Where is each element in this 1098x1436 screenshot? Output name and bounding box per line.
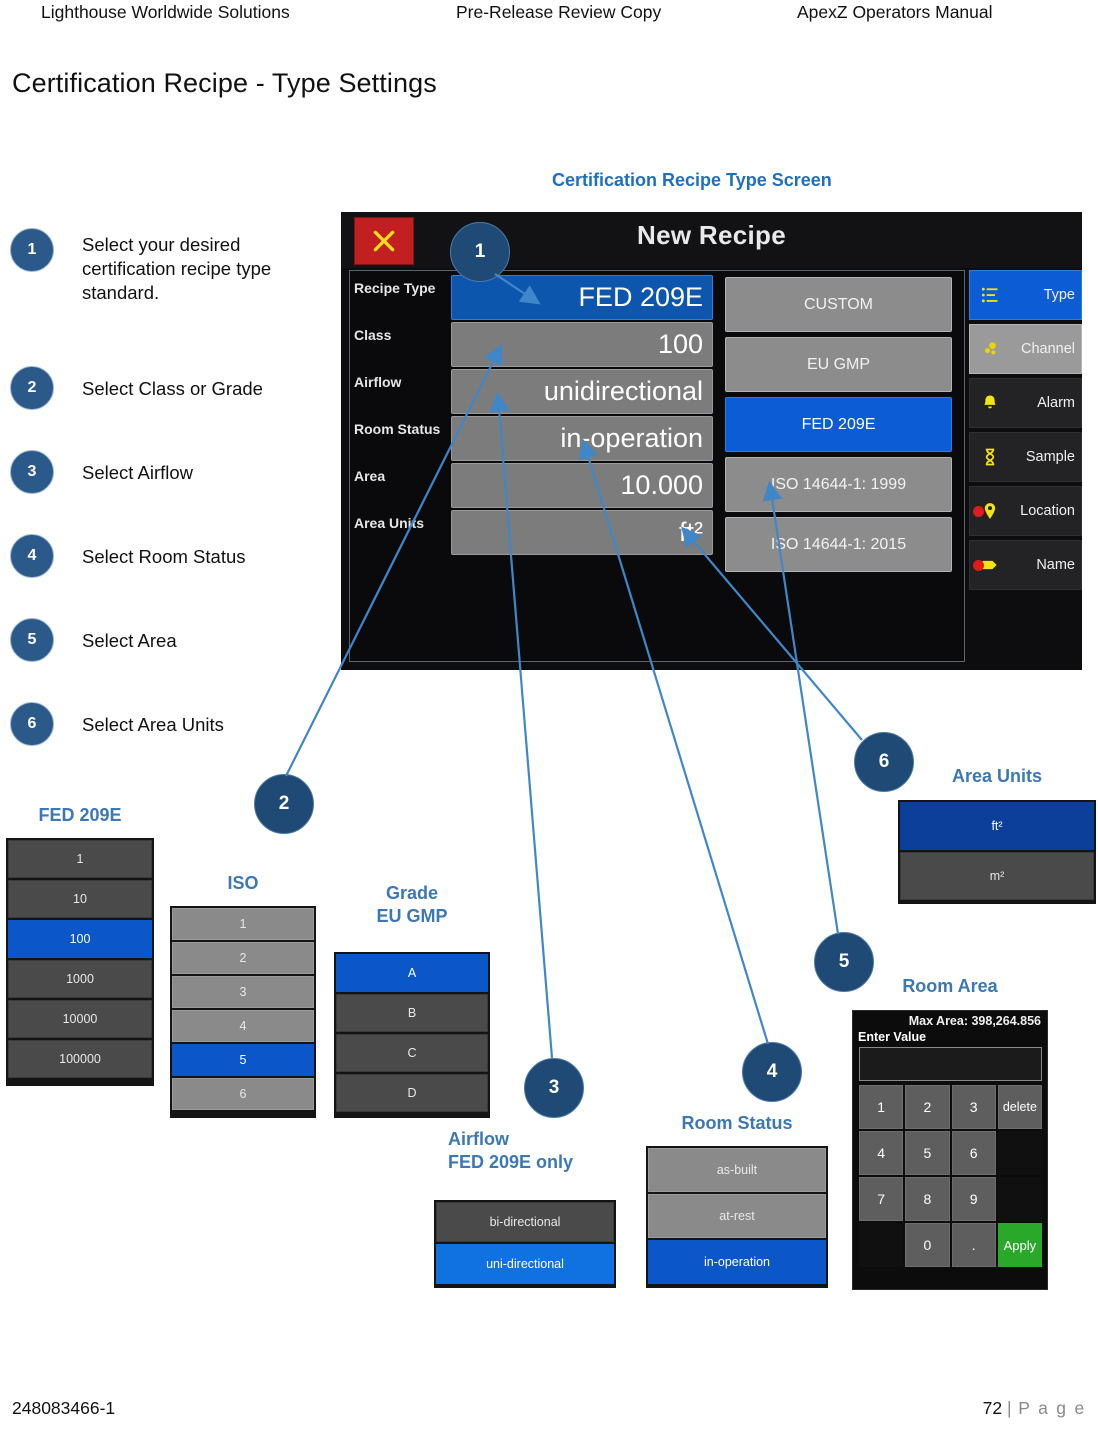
- keypad-key-0[interactable]: 0: [905, 1223, 949, 1267]
- rail-item-alarm-label: Alarm: [1010, 395, 1081, 411]
- panel-title-airflow-line2: FED 209E only: [448, 1152, 573, 1172]
- step-badge-2-label: 2: [28, 379, 37, 397]
- panel-grade-list: A B C D: [334, 952, 490, 1118]
- field-recipe-type-label: Recipe Type: [354, 280, 452, 296]
- footer-page-separator: |: [1007, 1398, 1013, 1418]
- callout-2-label: 2: [279, 793, 290, 815]
- list-item[interactable]: 3: [172, 976, 314, 1008]
- option-iso-2015[interactable]: ISO 14644-1: 2015: [725, 517, 952, 572]
- callout-4-label: 4: [767, 1061, 778, 1083]
- step-2-label: Select Class or Grade: [82, 378, 263, 399]
- panel-room-status-list: as-built at-rest in-operation: [646, 1146, 828, 1288]
- list-item[interactable]: 1: [8, 840, 152, 878]
- step-text-4: Select Room Status: [82, 545, 246, 569]
- recipe-type-options: CUSTOM EU GMP FED 209E ISO 14644-1: 1999…: [725, 277, 952, 577]
- keypad-key-3[interactable]: 3: [952, 1085, 996, 1129]
- step-3-label: Select Airflow: [82, 462, 193, 483]
- step-badge-6-label: 6: [28, 715, 37, 733]
- callout-1-label: 1: [475, 241, 486, 263]
- channel-icon: [970, 339, 1010, 359]
- panel-title-room-status: Room Status: [646, 1112, 828, 1135]
- list-item[interactable]: uni-directional: [436, 1244, 614, 1284]
- panel-airflow-list: bi-directional uni-directional: [434, 1200, 616, 1288]
- page-footer: 248083466-1 72 | P a g e: [0, 1398, 1098, 1428]
- panel-title-grade-line1: Grade: [386, 883, 438, 903]
- step-badge-3-label: 3: [28, 463, 37, 481]
- list-item[interactable]: 2: [172, 942, 314, 974]
- list-item[interactable]: B: [336, 994, 488, 1032]
- keypad-key-7[interactable]: 7: [859, 1177, 903, 1221]
- max-area-label: Max Area: 398,264.856: [909, 1014, 1041, 1028]
- keypad-key-9[interactable]: 9: [952, 1177, 996, 1221]
- callout-6-label: 6: [879, 751, 890, 773]
- panel-room-area-keypad: Max Area: 398,264.856 Enter Value 1 2 3 …: [852, 1010, 1048, 1290]
- list-item[interactable]: as-built: [648, 1148, 826, 1192]
- rail-item-sample-label: Sample: [1010, 449, 1081, 465]
- step-1-label: Select your desired certification recipe…: [82, 234, 271, 303]
- device-nav-rail: Type Channel Alarm: [969, 270, 1082, 594]
- footer-doc-number: 248083466-1: [12, 1398, 115, 1419]
- field-room-status-value[interactable]: in-operation: [451, 416, 713, 461]
- device-body: Recipe Type FED 209E Class 100 Airflow u…: [349, 270, 965, 662]
- list-item[interactable]: 5: [172, 1044, 314, 1076]
- step-badge-2: 2: [10, 366, 54, 410]
- list-item[interactable]: D: [336, 1074, 488, 1112]
- field-area-label: Area: [354, 468, 452, 484]
- keypad-key-blank-3: [859, 1223, 903, 1267]
- footer-page-indicator: 72 | P a g e: [983, 1398, 1086, 1419]
- field-area-value[interactable]: 10.000: [451, 463, 713, 508]
- area-value-input[interactable]: [859, 1047, 1042, 1081]
- step-text-2: Select Class or Grade: [82, 377, 263, 401]
- field-class-value[interactable]: 100: [451, 322, 713, 367]
- step-6-label: Select Area Units: [82, 714, 224, 735]
- list-item[interactable]: 4: [172, 1010, 314, 1042]
- bell-icon: [970, 393, 1010, 413]
- rail-item-name-label: Name: [1010, 557, 1081, 573]
- header-right-text: ApexZ Operators Manual: [797, 2, 993, 23]
- list-item[interactable]: 10000: [8, 1000, 152, 1038]
- list-item[interactable]: in-operation: [648, 1240, 826, 1284]
- callout-4: 4: [742, 1042, 802, 1102]
- callout-3-label: 3: [549, 1077, 560, 1099]
- keypad-key-4[interactable]: 4: [859, 1131, 903, 1175]
- option-eu-gmp[interactable]: EU GMP: [725, 337, 952, 392]
- keypad-key-5[interactable]: 5: [905, 1131, 949, 1175]
- rail-item-type[interactable]: Type: [969, 270, 1082, 320]
- list-item[interactable]: A: [336, 954, 488, 992]
- field-airflow-label: Airflow: [354, 374, 452, 390]
- keypad-key-8[interactable]: 8: [905, 1177, 949, 1221]
- panel-iso-list: 1 2 3 4 5 6: [170, 906, 316, 1118]
- panel-title-fed209e: FED 209E: [6, 804, 154, 827]
- field-area-units-value[interactable]: ft²: [451, 510, 713, 555]
- rail-item-channel[interactable]: Channel: [969, 324, 1082, 374]
- panel-title-grade-line2: EU GMP: [376, 906, 447, 926]
- panel-title-airflow: Airflow FED 209E only: [448, 1128, 628, 1174]
- step-badge-1: 1: [10, 228, 54, 272]
- keypad-key-blank-1: [998, 1131, 1042, 1175]
- field-airflow-value[interactable]: unidirectional: [451, 369, 713, 414]
- panel-title-area-units: Area Units: [898, 765, 1096, 788]
- panel-title-room-area: Room Area: [852, 975, 1048, 998]
- step-badge-4-label: 4: [28, 547, 37, 565]
- panel-title-iso: ISO: [170, 872, 316, 895]
- rail-item-alarm[interactable]: Alarm: [969, 378, 1082, 428]
- list-item[interactable]: ft²: [900, 802, 1094, 850]
- step-text-3: Select Airflow: [82, 461, 193, 485]
- name-alert-dot-icon: [973, 560, 984, 571]
- list-item[interactable]: 1000: [8, 960, 152, 998]
- step-text-1: Select your desired certification recipe…: [82, 233, 297, 305]
- keypad-key-6[interactable]: 6: [952, 1131, 996, 1175]
- step-badge-5-label: 5: [28, 631, 37, 649]
- field-recipe-type-value[interactable]: FED 209E: [451, 275, 713, 320]
- list-item[interactable]: bi-directional: [436, 1202, 614, 1242]
- option-iso-1999[interactable]: ISO 14644-1: 1999: [725, 457, 952, 512]
- keypad-key-blank-2: [998, 1177, 1042, 1221]
- panel-title-grade: Grade EU GMP: [334, 882, 490, 928]
- enter-value-label: Enter Value: [858, 1030, 926, 1044]
- location-alert-dot-icon: [973, 506, 984, 517]
- callout-1: 1: [450, 222, 510, 282]
- step-badge-5: 5: [10, 618, 54, 662]
- keypad-key-1[interactable]: 1: [859, 1085, 903, 1129]
- list-item[interactable]: at-rest: [648, 1194, 826, 1238]
- keypad-key-2[interactable]: 2: [905, 1085, 949, 1129]
- list-item[interactable]: 10: [8, 880, 152, 918]
- header-left-text: Lighthouse Worldwide Solutions: [41, 2, 290, 23]
- callout-2: 2: [254, 774, 314, 834]
- device-screenshot: New Recipe Recipe Type FED 209E Class 10…: [341, 212, 1082, 670]
- list-item[interactable]: 1: [172, 908, 314, 940]
- panel-area-units-list: ft² m²: [898, 800, 1096, 904]
- step-4-label: Select Room Status: [82, 546, 246, 567]
- list-item[interactable]: 100: [8, 920, 152, 958]
- keypad-key-dot[interactable]: .: [952, 1223, 996, 1267]
- field-area-units-label: Area Units: [354, 515, 452, 531]
- step-badge-1-label: 1: [28, 241, 37, 259]
- rail-item-type-label: Type: [1010, 287, 1081, 303]
- rail-item-location-label: Location: [1010, 503, 1081, 519]
- rail-item-location[interactable]: Location: [969, 486, 1082, 536]
- list-item[interactable]: 100000: [8, 1040, 152, 1078]
- step-text-6: Select Area Units: [82, 713, 224, 737]
- list-item[interactable]: 6: [172, 1078, 314, 1110]
- rail-item-name[interactable]: Name: [969, 540, 1082, 590]
- figure-caption: Certification Recipe Type Screen: [552, 170, 832, 191]
- panel-title-airflow-line1: Airflow: [448, 1129, 509, 1149]
- keypad-key-delete[interactable]: delete: [998, 1085, 1042, 1129]
- rail-item-sample[interactable]: Sample: [969, 432, 1082, 482]
- page-title: Certification Recipe - Type Settings: [12, 68, 437, 99]
- callout-5-label: 5: [839, 951, 850, 973]
- list-item[interactable]: m²: [900, 852, 1094, 900]
- step-badge-6: 6: [10, 702, 54, 746]
- hourglass-icon: [970, 447, 1010, 467]
- option-fed-209e[interactable]: FED 209E: [725, 397, 952, 452]
- field-class-label: Class: [354, 327, 452, 343]
- step-5-label: Select Area: [82, 630, 177, 651]
- rail-item-channel-label: Channel: [1010, 341, 1081, 357]
- footer-page-number: 72: [983, 1398, 1002, 1418]
- callout-3: 3: [524, 1058, 584, 1118]
- keypad-key-apply[interactable]: Apply: [998, 1223, 1042, 1267]
- header-center-text: Pre-Release Review Copy: [456, 2, 661, 23]
- page-header: Lighthouse Worldwide Solutions Pre-Relea…: [0, 0, 1098, 30]
- field-room-status-label: Room Status: [354, 421, 452, 437]
- step-text-5: Select Area: [82, 629, 177, 653]
- option-custom[interactable]: CUSTOM: [725, 277, 952, 332]
- list-item[interactable]: C: [336, 1034, 488, 1072]
- step-badge-4: 4: [10, 534, 54, 578]
- footer-page-word: P a g e: [1018, 1398, 1086, 1418]
- keypad-grid: 1 2 3 delete 4 5 6 7 8 9 0 . Apply: [859, 1085, 1042, 1267]
- list-icon: [970, 285, 1010, 305]
- step-badge-3: 3: [10, 450, 54, 494]
- panel-fed209e-list: 1 10 100 1000 10000 100000: [6, 838, 154, 1086]
